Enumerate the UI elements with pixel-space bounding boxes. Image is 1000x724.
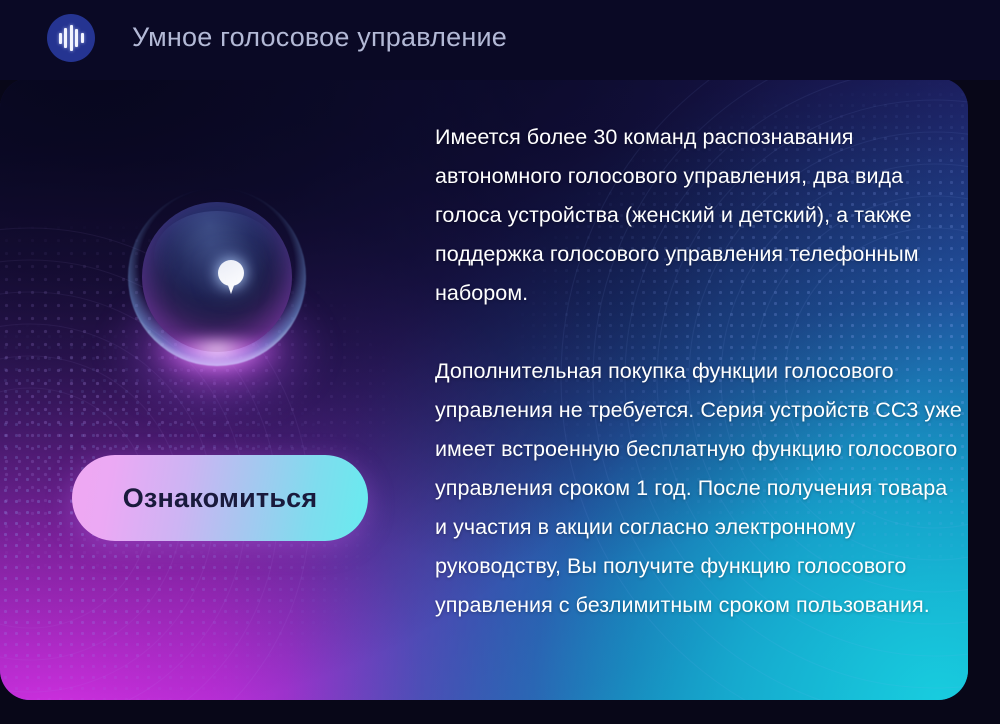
- paragraph-features: Имеется более 30 команд распознавания ав…: [435, 118, 965, 313]
- page-title: Умное голосовое управление: [132, 22, 507, 53]
- orb-bottom-glow: [152, 338, 282, 378]
- description-text-block: Имеется более 30 команд распознавания ав…: [435, 118, 965, 625]
- page-header: Умное голосовое управление: [0, 0, 1000, 80]
- promo-slide: Ознакомиться Имеется более 30 команд рас…: [0, 0, 1000, 724]
- learn-more-button[interactable]: Ознакомиться: [72, 455, 368, 541]
- learn-more-button-label: Ознакомиться: [123, 483, 318, 514]
- voice-orb: [128, 188, 306, 384]
- paragraph-purchase-info: Дополнительная покупка функции голосовог…: [435, 352, 965, 625]
- voice-pin-icon: [218, 260, 244, 294]
- content-card: Ознакомиться Имеется более 30 команд рас…: [0, 78, 968, 700]
- orb-body: [142, 202, 292, 352]
- voice-waveform-icon: [47, 14, 95, 62]
